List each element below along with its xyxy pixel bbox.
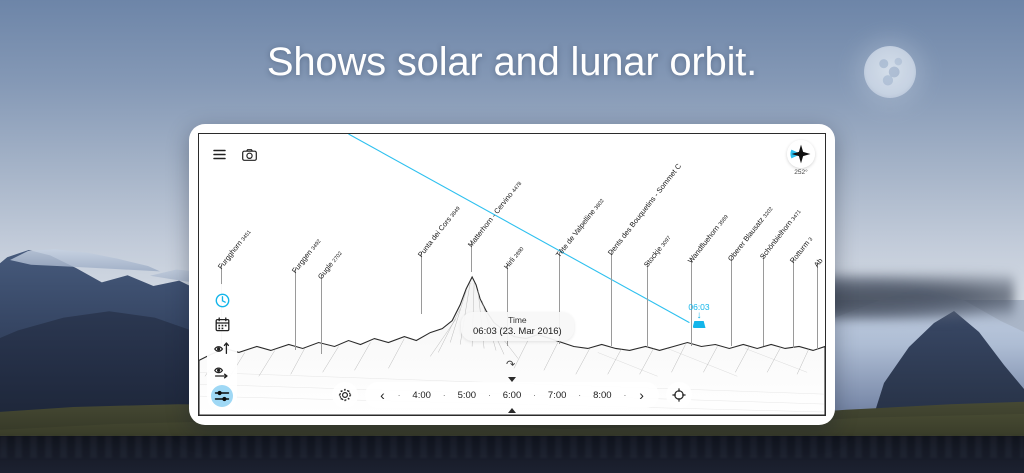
time-tooltip: Time 06:03 (23. Mar 2016) xyxy=(461,312,574,341)
date-tool[interactable] xyxy=(211,313,233,335)
time-minor-tick: · xyxy=(392,391,407,400)
camera-button[interactable] xyxy=(237,142,262,167)
compass-widget[interactable]: 252° xyxy=(787,140,815,176)
gear-icon xyxy=(338,388,352,402)
next-time-button[interactable]: › xyxy=(632,388,651,402)
crosshair-icon xyxy=(672,388,686,402)
lake-reflection xyxy=(0,436,1024,458)
time-minor-tick: · xyxy=(527,391,542,400)
time-ticks: ·4:00·5:00·6:00·7:00·8:00· xyxy=(392,390,633,401)
time-label[interactable]: 4:00 xyxy=(406,390,437,401)
peak-tick xyxy=(817,262,818,350)
time-label[interactable]: 6:00 xyxy=(497,390,528,401)
peak-tick xyxy=(295,268,296,350)
time-label[interactable]: 7:00 xyxy=(542,390,573,401)
peak-tick xyxy=(647,262,648,348)
prev-time-button[interactable]: ‹ xyxy=(373,388,392,402)
time-minor-tick: · xyxy=(572,391,587,400)
sun-down-arrow-icon: ↓ xyxy=(676,311,722,321)
hamburger-menu-icon xyxy=(213,149,226,160)
time-caret-top xyxy=(508,377,516,382)
settings-button[interactable] xyxy=(332,382,358,408)
peak-tick xyxy=(421,252,422,314)
camera-icon xyxy=(242,149,257,161)
sun-position-marker[interactable]: 06:03 ↓ xyxy=(676,302,722,328)
eye-up-icon xyxy=(214,341,230,355)
peak-tick xyxy=(611,250,612,346)
sun-marker-dot xyxy=(693,321,706,328)
peak-tick xyxy=(763,254,764,346)
bottom-toolbar: ‹ ·4:00·5:00·6:00·7:00·8:00· › xyxy=(199,382,825,408)
compass-bearing: 252° xyxy=(787,169,815,176)
tooltip-value: 06:03 (23. Mar 2016) xyxy=(473,326,562,337)
app-screen: Furgghorn3451Furggen3492Gugle2702Punta d… xyxy=(198,133,826,416)
time-minor-tick: · xyxy=(437,391,452,400)
device-frame: Furgghorn3451Furggen3492Gugle2702Punta d… xyxy=(189,124,835,425)
time-caret-bottom xyxy=(508,408,516,413)
page-title: Shows solar and lunar orbit. xyxy=(0,40,1024,85)
undo-icon[interactable]: ↷ xyxy=(506,358,515,371)
time-label[interactable]: 5:00 xyxy=(452,390,483,401)
peak-tick xyxy=(471,242,472,272)
peak-tick xyxy=(793,258,794,348)
eye-right-icon xyxy=(214,365,230,379)
peak-tick xyxy=(731,256,732,346)
menu-button[interactable] xyxy=(207,142,232,167)
azimuth-tool[interactable] xyxy=(211,361,233,383)
time-scrubber[interactable]: ‹ ·4:00·5:00·6:00·7:00·8:00· › xyxy=(365,382,659,408)
peak-tick xyxy=(321,274,322,354)
tooltip-title: Time xyxy=(473,315,562,325)
time-tool[interactable] xyxy=(211,289,233,311)
time-label[interactable]: 8:00 xyxy=(587,390,618,401)
recenter-button[interactable] xyxy=(666,382,692,408)
elevation-tool[interactable] xyxy=(211,337,233,359)
calendar-icon xyxy=(215,317,230,332)
compass-button[interactable] xyxy=(787,140,815,168)
time-minor-tick: · xyxy=(482,391,497,400)
clock-icon xyxy=(215,293,230,308)
time-minor-tick: · xyxy=(618,391,633,400)
compass-rose-icon xyxy=(790,143,812,165)
